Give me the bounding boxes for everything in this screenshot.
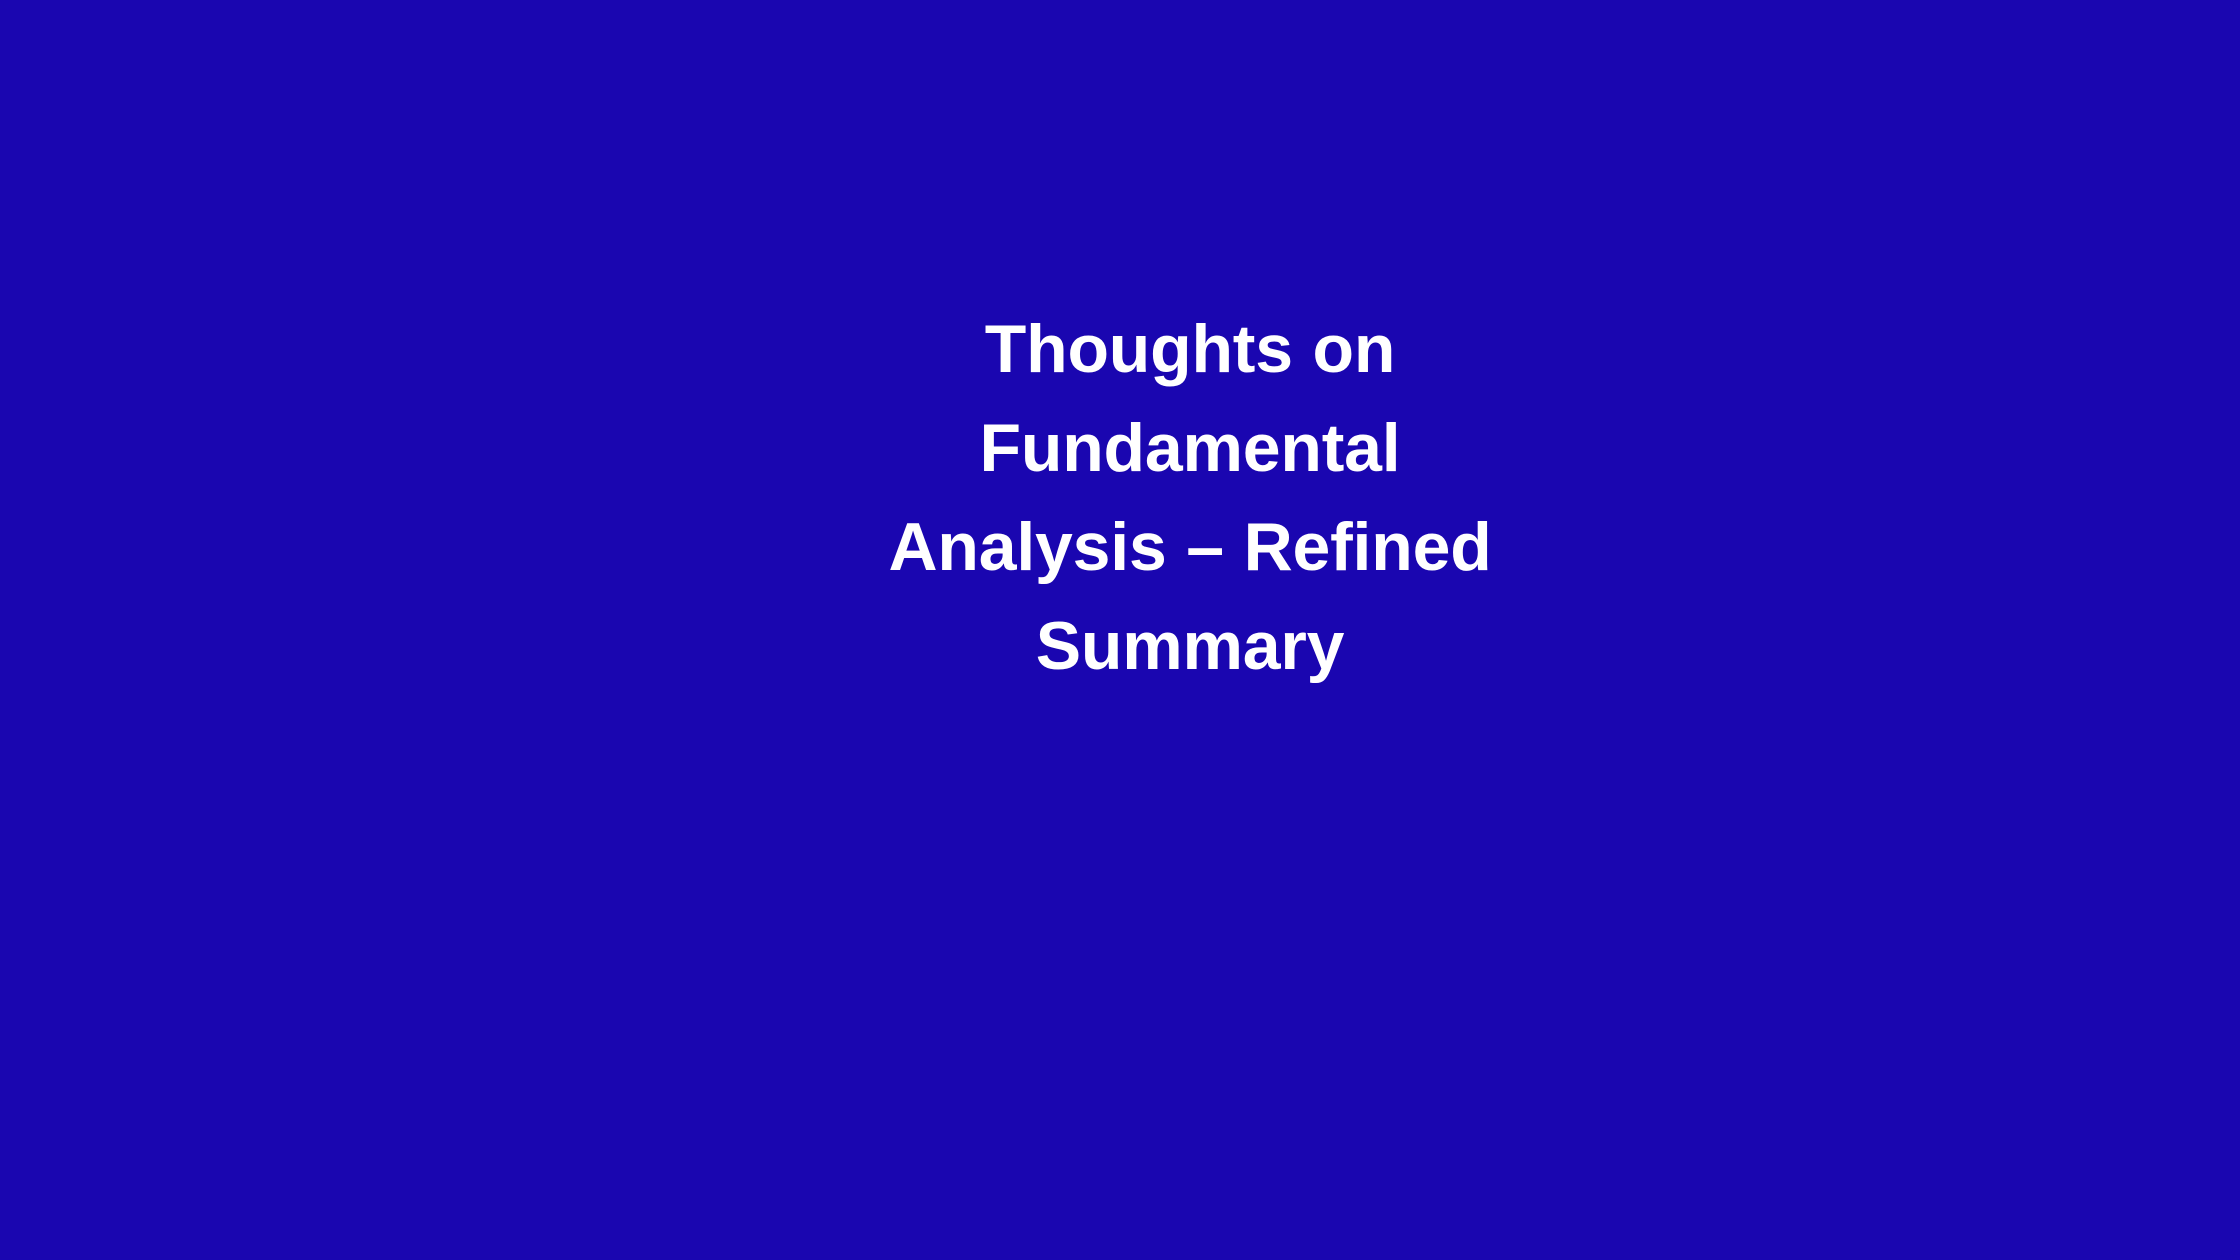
page-title: Thoughts on Fundamental Analysis – Refin… bbox=[720, 300, 1660, 696]
slide-canvas: Thoughts on Fundamental Analysis – Refin… bbox=[0, 0, 2240, 1260]
title-block: Thoughts on Fundamental Analysis – Refin… bbox=[720, 300, 1660, 696]
